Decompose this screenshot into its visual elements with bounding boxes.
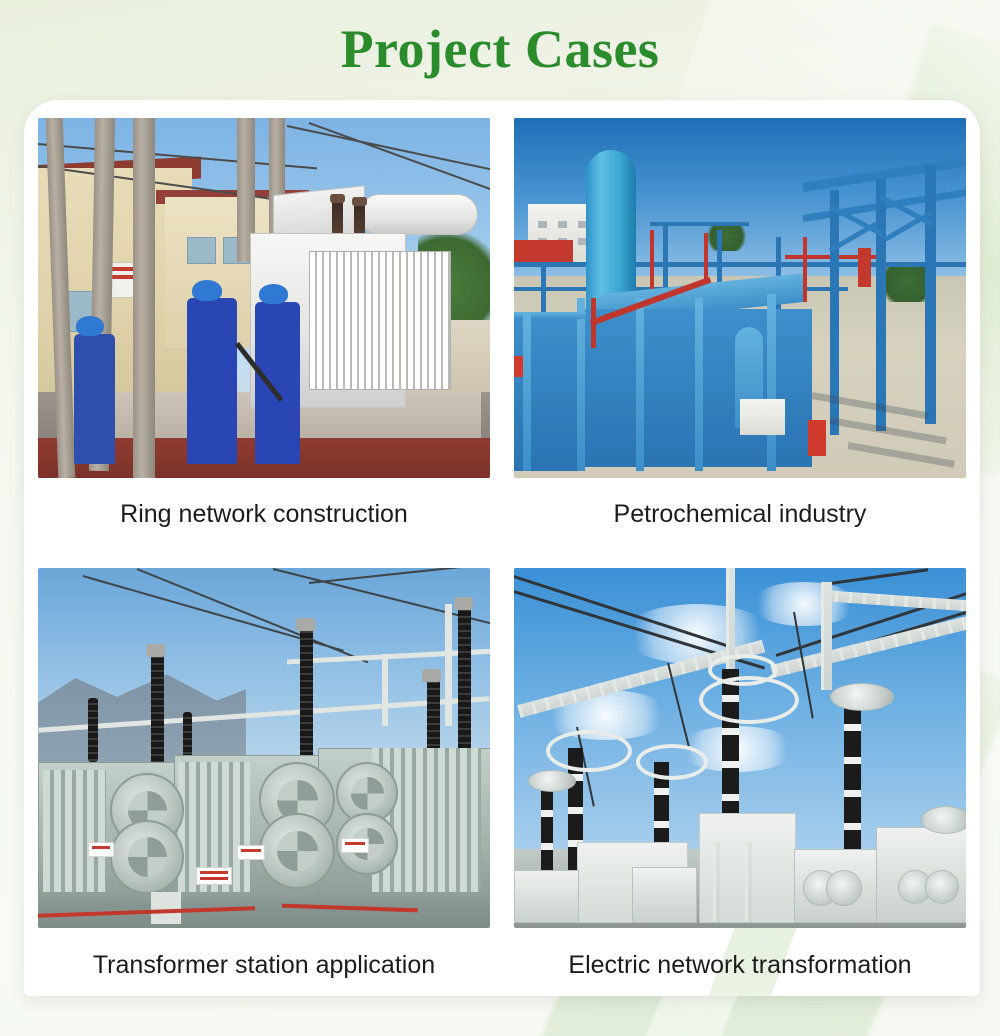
worker-helmet — [259, 284, 288, 304]
greenery — [704, 222, 749, 251]
left-pipe-riser — [523, 312, 531, 470]
pipe-bridge-column — [876, 179, 886, 431]
pipe-rack-column — [541, 262, 546, 312]
nameplate — [237, 845, 265, 860]
bushing-cap — [454, 597, 473, 610]
process-skid-upright — [695, 298, 703, 471]
safety-sign — [808, 420, 826, 456]
nameplate — [341, 838, 369, 853]
cooling-fan — [110, 820, 184, 894]
transformer-bushing — [458, 604, 471, 755]
case-caption: Transformer station application — [38, 928, 490, 996]
worker-body — [187, 298, 237, 464]
nameplate — [196, 867, 232, 885]
insulator-top-fitting — [528, 770, 576, 792]
equipment-bushing — [921, 806, 966, 834]
support-post — [445, 604, 452, 726]
red-equipment-block — [514, 240, 573, 262]
process-skid-upright — [577, 298, 585, 471]
case-image-transformer-station-application[interactable] — [38, 568, 490, 928]
case-image-petrochemical-industry[interactable] — [514, 118, 966, 478]
switchgear-unit — [632, 867, 697, 923]
cases-grid: Ring network construction — [24, 100, 980, 996]
support-tower — [821, 582, 832, 690]
worker-helmet — [76, 316, 104, 336]
case-image-ring-network-construction[interactable] — [38, 118, 490, 478]
control-cabinet — [740, 399, 785, 435]
cases-card: Ring network construction — [24, 100, 980, 996]
process-skid-upright — [767, 294, 776, 470]
case-image-electric-network-transformation[interactable] — [514, 568, 966, 928]
case-item-petrochemical[interactable]: Petrochemical industry — [502, 100, 980, 550]
safety-sign — [514, 356, 523, 378]
case-item-ring-network[interactable]: Ring network construction — [24, 100, 502, 550]
transformer-bushing — [300, 626, 313, 763]
worker-helmet — [192, 280, 222, 301]
red-fire-pipe — [591, 298, 596, 348]
pipe-rack — [514, 262, 966, 267]
transformer-conservator-tank — [359, 194, 479, 236]
case-item-electric-network[interactable]: Electric network transformation — [502, 550, 980, 996]
red-fire-pipe — [803, 237, 807, 302]
bushing-cap — [296, 618, 315, 631]
window — [187, 237, 216, 264]
case-caption: Ring network construction — [38, 478, 490, 550]
transformer-bushing-cap — [352, 197, 367, 206]
cases-row-2: Transformer station application — [24, 550, 980, 996]
bushing-cap — [422, 669, 441, 682]
radiator-fins — [43, 770, 106, 892]
nameplate — [88, 842, 114, 857]
case-caption: Petrochemical industry — [514, 478, 966, 550]
case-caption: Electric network transformation — [514, 928, 966, 996]
corona-ring — [546, 730, 632, 772]
transformer-bushing — [151, 651, 164, 766]
cases-row-1: Ring network construction — [24, 100, 980, 550]
transformer-radiator — [309, 251, 451, 390]
steel-frame-leg — [745, 842, 752, 921]
steel-frame-leg — [713, 842, 720, 921]
project-cases-page: Project Cases — [0, 0, 1000, 1036]
bushing-cap — [146, 644, 165, 657]
support-post — [382, 654, 388, 726]
switchgear-unit — [514, 870, 579, 922]
page-title: Project Cases — [0, 16, 1000, 82]
worker-body — [255, 302, 300, 464]
radiator-fins — [372, 748, 480, 892]
transformer-bushing-cap — [330, 194, 345, 203]
utility-pole — [133, 118, 155, 478]
transformer-bushing — [88, 698, 98, 763]
case-item-transformer-station[interactable]: Transformer station application — [24, 550, 502, 996]
worker-body — [74, 334, 115, 464]
process-skid-upright — [636, 298, 644, 471]
cooling-fan — [259, 813, 335, 889]
pipe-bridge-column — [925, 165, 936, 424]
pipe-rack-beam — [650, 222, 749, 226]
red-valve-box — [858, 248, 872, 288]
